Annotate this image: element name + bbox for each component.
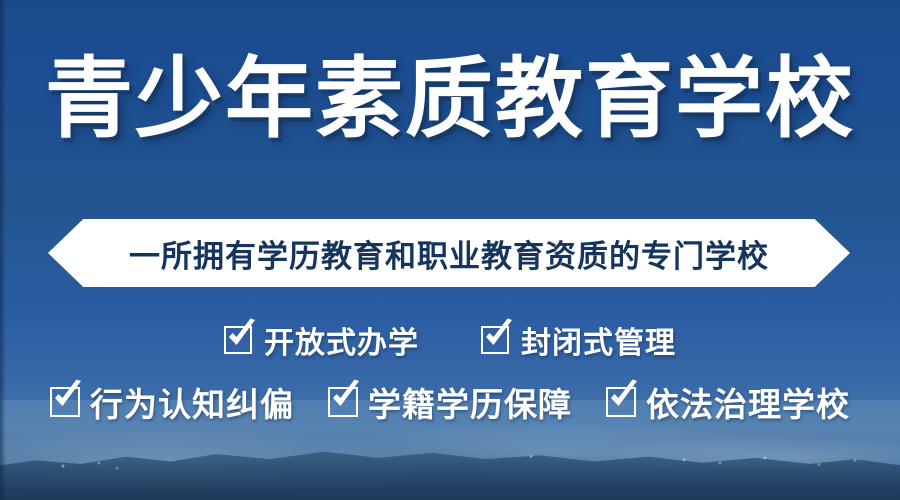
checkbox-checked-icon — [606, 387, 636, 417]
feature-row-2: 行为认知纠偏 学籍学历保障 依法治理学校 — [0, 378, 900, 426]
ribbon-text: 一所拥有学历教育和职业教育资质的专门学校 — [129, 231, 769, 276]
feature-label: 封闭式管理 — [521, 318, 676, 362]
feature-label: 行为认知纠偏 — [90, 378, 294, 426]
feature-row-1: 开放式办学 封闭式管理 — [0, 318, 900, 362]
checkbox-checked-icon — [481, 326, 509, 354]
feature-label: 开放式办学 — [264, 318, 419, 362]
promo-poster: 青少年素质教育学校 一所拥有学历教育和职业教育资质的专门学校 开放式办学 — [0, 0, 900, 500]
feature-item: 行为认知纠偏 — [50, 378, 294, 426]
checkbox-checked-icon — [224, 326, 252, 354]
feature-item: 封闭式管理 — [481, 318, 676, 362]
feature-item: 学籍学历保障 — [328, 378, 572, 426]
feature-item: 开放式办学 — [224, 318, 419, 362]
subtitle-ribbon-banner: 一所拥有学历教育和职业教育资质的专门学校 — [48, 219, 850, 287]
checkbox-checked-icon — [50, 387, 80, 417]
background-distant-lights — [0, 442, 900, 482]
poster-headline: 青少年素质教育学校 — [0, 52, 900, 145]
feature-label: 学籍学历保障 — [368, 378, 572, 426]
checkbox-checked-icon — [328, 387, 358, 417]
feature-item: 依法治理学校 — [606, 378, 850, 426]
feature-label: 依法治理学校 — [646, 378, 850, 426]
feature-list: 开放式办学 封闭式管理 行为 — [0, 318, 900, 426]
